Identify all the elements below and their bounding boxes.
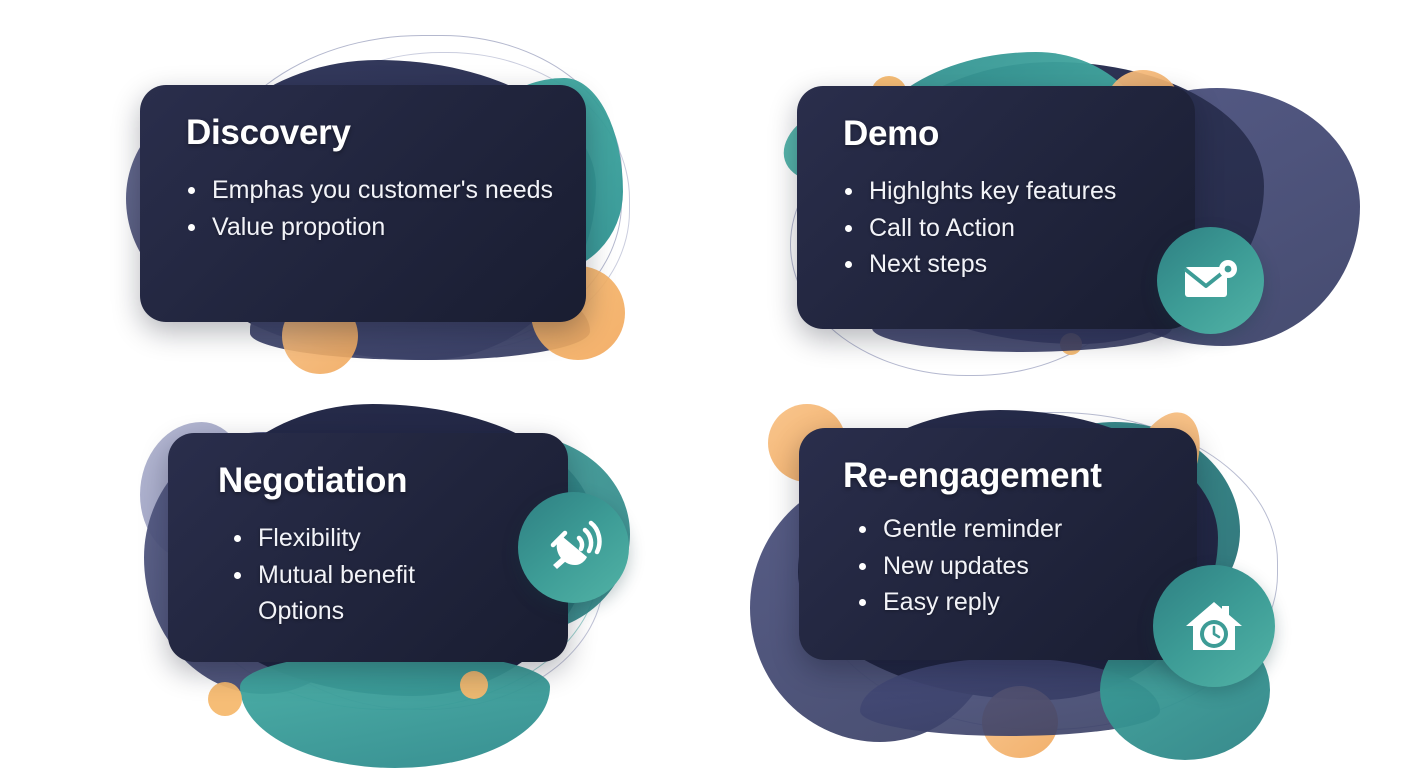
slide-canvas: Discovery Emphas you customer's needs Va… (0, 0, 1408, 768)
list-item: Mutual benefit (232, 557, 534, 594)
card-title: Negotiation (218, 463, 534, 500)
blob-orange (982, 686, 1058, 758)
card-title: Discovery (186, 115, 552, 152)
satellite-dish-icon (545, 519, 603, 577)
card-bullet-list: Emphas you customer's needs Value propot… (186, 172, 552, 246)
card-title: Demo (843, 116, 1161, 153)
list-item: Flexibility (232, 520, 534, 557)
card-bullet-list: Flexibility Mutual benefit Options (218, 520, 534, 630)
list-item: Value propotion (186, 209, 552, 246)
list-item: Next steps (843, 246, 1161, 283)
house-clock-icon (1182, 596, 1246, 656)
list-item: New updates (857, 548, 1163, 585)
blob-teal (240, 652, 550, 768)
envelope-notification-icon (1183, 259, 1239, 303)
list-item: Easy reply (857, 584, 1163, 621)
blob-navy-wave (860, 658, 1160, 736)
card-discovery[interactable]: Discovery Emphas you customer's needs Va… (140, 85, 586, 322)
list-item: Emphas you customer's needs (186, 172, 552, 209)
card-bullet-list: Gentle reminder New updates Easy reply (843, 511, 1163, 621)
card-negotiation[interactable]: Negotiation Flexibility Mutual benefit O… (168, 433, 568, 662)
list-item: Options (232, 593, 534, 630)
blob-orange (208, 682, 242, 716)
card-bullet-list: Highlghts key features Call to Action Ne… (843, 173, 1161, 283)
card-re-engagement[interactable]: Re-engagement Gentle reminder New update… (799, 428, 1197, 660)
blob-orange (460, 671, 488, 699)
envelope-notification-icon-badge[interactable] (1157, 227, 1264, 334)
card-demo[interactable]: Demo Highlghts key features Call to Acti… (797, 86, 1195, 329)
list-item: Call to Action (843, 210, 1161, 247)
house-clock-icon-badge[interactable] (1153, 565, 1275, 687)
satellite-dish-icon-badge[interactable] (518, 492, 629, 603)
blob-orange (1060, 333, 1082, 355)
list-item: Gentle reminder (857, 511, 1163, 548)
card-title: Re-engagement (843, 458, 1163, 495)
list-item: Highlghts key features (843, 173, 1161, 210)
